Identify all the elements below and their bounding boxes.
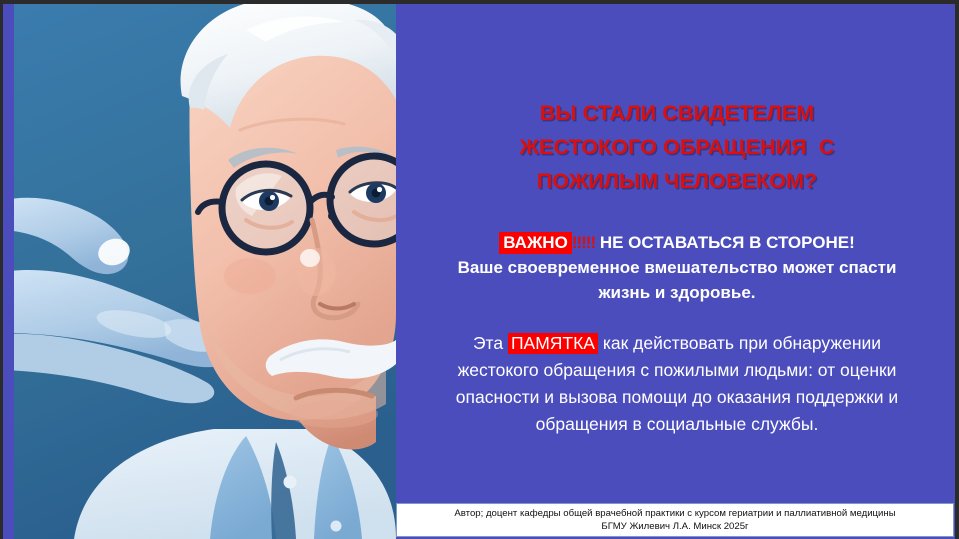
important-line-1-rest: НЕ ОСТАВАТЬСЯ В СТОРОНЕ! xyxy=(595,233,855,252)
footer-line-2: БГМУ Жилевич Л.А. Минск 2025г xyxy=(601,520,748,534)
body-line-1-rest: как действовать при обнаружении xyxy=(598,333,881,353)
exclamation-marks: !!!!! xyxy=(572,233,595,252)
important-callout: ВАЖНО!!!!! НЕ ОСТАВАТЬСЯ В СТОРОНЕ! Ваше… xyxy=(410,230,944,305)
body-line-2: жестокого обращения с пожилыми людьми: о… xyxy=(408,357,946,384)
headline-line-1: ВЫ СТАЛИ СВИДЕТЕЛЕМ xyxy=(410,96,944,130)
pamyatka-badge: ПАМЯТКА xyxy=(508,333,598,354)
body-line-1: Эта ПАМЯТКА как действовать при обнаруже… xyxy=(408,330,946,357)
elderly-man-illustration xyxy=(14,4,396,539)
headline-line-2: ЖЕСТОКОГО ОБРАЩЕНИЯ С xyxy=(410,130,944,164)
body-line-3: опасности и вызова помощи до оказания по… xyxy=(408,384,946,411)
important-line-3: жизнь и здоровье. xyxy=(410,280,944,305)
important-line-1: ВАЖНО!!!!! НЕ ОСТАВАТЬСЯ В СТОРОНЕ! xyxy=(410,230,944,255)
body-line-4: обращения в социальные службы. xyxy=(408,411,946,438)
left-purple-spine xyxy=(3,4,14,539)
illustration-svg xyxy=(14,4,396,539)
elderly-face xyxy=(181,4,396,428)
headline-line-3: ПОЖИЛЫМ ЧЕЛОВЕКОМ? xyxy=(410,164,944,198)
body-prefix: Эта xyxy=(473,333,508,353)
author-footer: Автор; доцент кафедры общей врачебной пр… xyxy=(396,503,954,537)
footer-line-1: Автор; доцент кафедры общей врачебной пр… xyxy=(454,507,895,521)
important-badge: ВАЖНО xyxy=(499,232,572,254)
important-line-2: Ваше своевременное вмешательство может с… xyxy=(410,255,944,280)
page-title: ВЫ СТАЛИ СВИДЕТЕЛЕМ ЖЕСТОКОГО ОБРАЩЕНИЯ … xyxy=(410,96,944,198)
slide-canvas: ВЫ СТАЛИ СВИДЕТЕЛЕМ ЖЕСТОКОГО ОБРАЩЕНИЯ … xyxy=(0,0,959,539)
body-paragraph: Эта ПАМЯТКА как действовать при обнаруже… xyxy=(408,330,946,438)
